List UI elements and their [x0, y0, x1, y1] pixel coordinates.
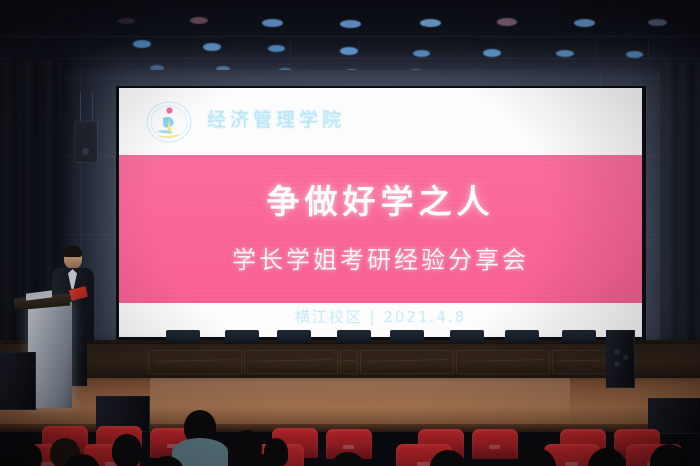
wall-speaker-left — [74, 121, 98, 163]
ceiling-downlight — [556, 50, 574, 57]
slide-footer-caption: 横江校区 | 2021.4.8 — [119, 306, 642, 327]
speaker-mount-rod — [92, 92, 93, 122]
ceiling-downlight — [497, 18, 517, 26]
audience-area — [0, 404, 700, 466]
slide-subtitle: 学长学姐考研经验分享会 — [119, 240, 642, 275]
ceiling-downlight — [626, 51, 643, 58]
ceiling-downlight — [203, 43, 221, 51]
college-emblem-icon — [145, 98, 193, 146]
projection-screen: 经济管理学院 争做好学之人 学长学姐考研经验分享会 横江校区 | 2021.4.… — [119, 88, 642, 337]
slide-title-band: 争做好学之人 学长学姐考研经验分享会 — [119, 155, 642, 303]
ceiling-downlight — [133, 40, 151, 48]
auditorium-seat — [472, 429, 518, 459]
speaker-mount-rod — [80, 92, 81, 122]
ceiling-downlight — [262, 19, 283, 27]
ceiling — [0, 0, 700, 78]
floor-speaker-left — [0, 352, 36, 410]
audience-head — [112, 434, 142, 466]
floor-speaker-right — [606, 330, 635, 388]
ceiling-downlight — [420, 19, 441, 27]
ceiling-downlight — [483, 49, 501, 57]
ceiling-downlight — [190, 17, 208, 24]
auditorium-photo: 经济管理学院 争做好学之人 学长学姐考研经验分享会 横江校区 | 2021.4.… — [0, 0, 700, 466]
slide-header: 经济管理学院 — [119, 88, 642, 155]
ceiling-downlight — [648, 19, 667, 26]
ceiling-downlight — [340, 47, 358, 55]
ceiling-downlight — [413, 50, 430, 57]
presenter-hair — [63, 246, 82, 257]
ceiling-downlight — [118, 18, 135, 24]
organization-name: 经济管理学院 — [207, 105, 345, 132]
slide-title: 争做好学之人 — [119, 175, 642, 223]
ceiling-downlight — [340, 20, 361, 28]
ceiling-downlight — [268, 45, 285, 52]
ceiling-downlight — [574, 19, 595, 27]
